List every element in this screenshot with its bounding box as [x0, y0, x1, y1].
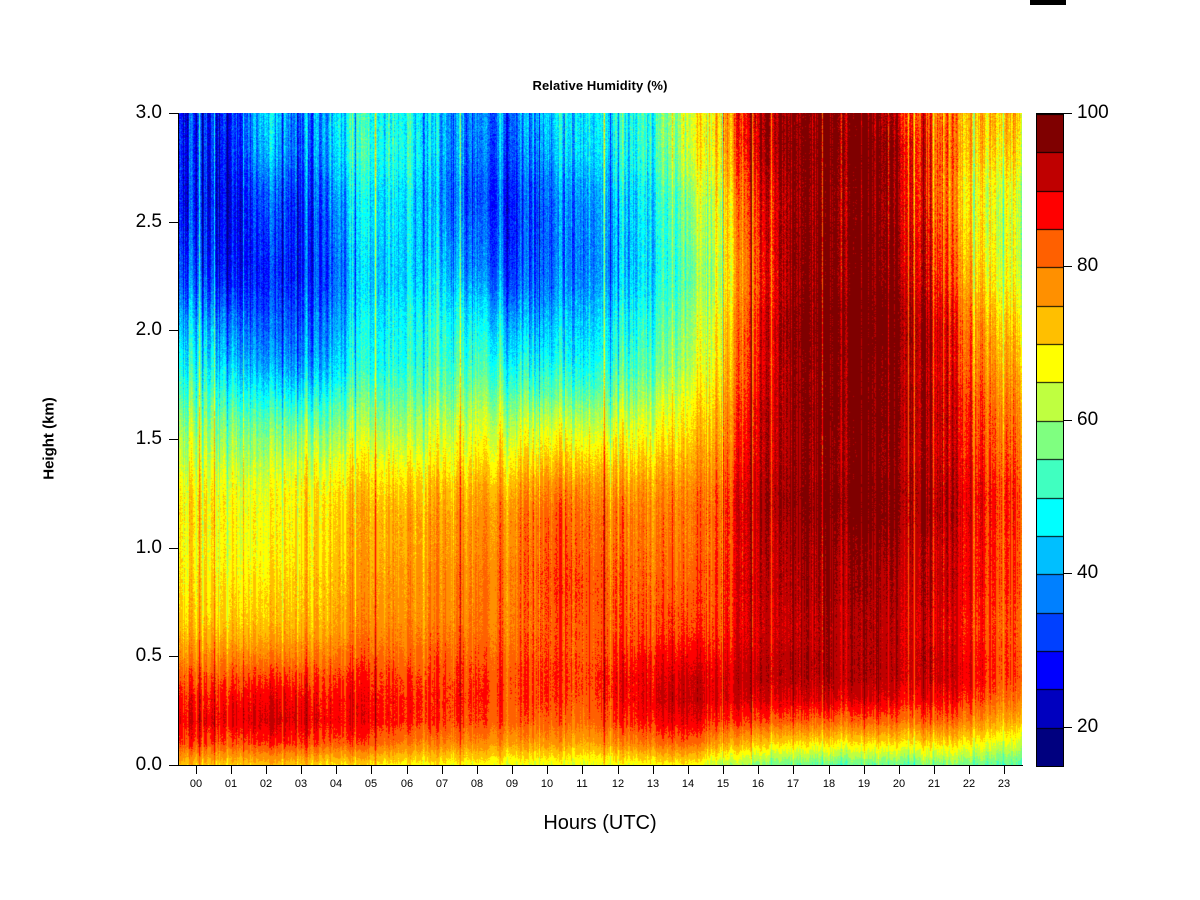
colorbar-tick-mark	[1063, 573, 1072, 574]
colorbar-tick-mark	[1063, 113, 1072, 114]
colorbar-tick-label: 40	[1077, 563, 1098, 582]
x-tick-mark	[793, 766, 794, 774]
x-tick-label: 16	[743, 778, 773, 790]
colorbar-tick-label: 20	[1077, 717, 1098, 736]
colorbar	[1036, 113, 1064, 767]
x-tick-label: 12	[603, 778, 633, 790]
relative-humidity-time-height-plot: Relative Humidity (%) 0.00.51.01.52.02.5…	[0, 0, 1200, 900]
x-tick-label: 00	[181, 778, 211, 790]
colorbar-tick-label: 80	[1077, 256, 1098, 275]
x-tick-mark	[829, 766, 830, 774]
x-tick-mark	[688, 766, 689, 774]
colorbar-tick-label: 100	[1077, 103, 1109, 122]
x-tick-label: 09	[497, 778, 527, 790]
x-tick-mark	[899, 766, 900, 774]
x-tick-label: 03	[286, 778, 316, 790]
x-tick-mark	[582, 766, 583, 774]
x-tick-label: 05	[356, 778, 386, 790]
x-tick-label: 06	[392, 778, 422, 790]
x-tick-label: 02	[251, 778, 281, 790]
x-tick-mark	[758, 766, 759, 774]
y-tick-mark	[169, 439, 178, 440]
x-tick-label: 13	[638, 778, 668, 790]
y-tick-label: 0.0	[90, 755, 162, 774]
y-tick-label: 1.0	[90, 538, 162, 557]
x-tick-mark	[547, 766, 548, 774]
x-tick-label: 18	[814, 778, 844, 790]
x-tick-mark	[618, 766, 619, 774]
y-tick-mark	[169, 113, 178, 114]
x-tick-mark	[477, 766, 478, 774]
y-tick-label: 1.5	[90, 429, 162, 448]
x-tick-mark	[1004, 766, 1005, 774]
x-tick-mark	[864, 766, 865, 774]
x-tick-mark	[512, 766, 513, 774]
page-title: Relative Humidity (%)	[178, 78, 1022, 93]
x-tick-mark	[266, 766, 267, 774]
y-tick-mark	[169, 222, 178, 223]
colorbar-tick-label: 60	[1077, 410, 1098, 429]
x-tick-mark	[723, 766, 724, 774]
x-tick-mark	[442, 766, 443, 774]
x-tick-mark	[231, 766, 232, 774]
x-tick-mark	[407, 766, 408, 774]
x-tick-mark	[196, 766, 197, 774]
y-tick-mark	[169, 656, 178, 657]
x-tick-label: 15	[708, 778, 738, 790]
x-tick-label: 23	[989, 778, 1019, 790]
top-right-artifact-bar	[1030, 0, 1066, 5]
x-tick-label: 14	[673, 778, 703, 790]
y-axis-title: Height (km)	[41, 359, 58, 519]
y-tick-mark	[169, 330, 178, 331]
x-tick-label: 19	[849, 778, 879, 790]
x-tick-mark	[371, 766, 372, 774]
x-tick-mark	[934, 766, 935, 774]
y-tick-mark	[169, 765, 178, 766]
y-tick-label: 0.5	[90, 646, 162, 665]
x-tick-label: 20	[884, 778, 914, 790]
x-axis-line	[178, 765, 1023, 766]
x-tick-label: 11	[567, 778, 597, 790]
y-tick-label: 2.0	[90, 320, 162, 339]
y-tick-mark	[169, 548, 178, 549]
x-tick-label: 10	[532, 778, 562, 790]
y-tick-label: 2.5	[90, 212, 162, 231]
x-tick-label: 04	[321, 778, 351, 790]
colorbar-tick-mark	[1063, 420, 1072, 421]
colorbar-tick-mark	[1063, 727, 1072, 728]
y-tick-label: 3.0	[90, 103, 162, 122]
x-tick-label: 21	[919, 778, 949, 790]
x-tick-label: 22	[954, 778, 984, 790]
x-tick-mark	[969, 766, 970, 774]
colorbar-tick-mark	[1063, 266, 1072, 267]
x-tick-mark	[336, 766, 337, 774]
x-tick-label: 01	[216, 778, 246, 790]
x-tick-mark	[301, 766, 302, 774]
x-axis-title: Hours (UTC)	[178, 812, 1022, 835]
y-axis-line	[178, 113, 179, 766]
x-tick-label: 08	[462, 778, 492, 790]
x-tick-label: 07	[427, 778, 457, 790]
x-tick-label: 17	[778, 778, 808, 790]
heatmap-field	[178, 113, 1022, 765]
x-tick-mark	[653, 766, 654, 774]
